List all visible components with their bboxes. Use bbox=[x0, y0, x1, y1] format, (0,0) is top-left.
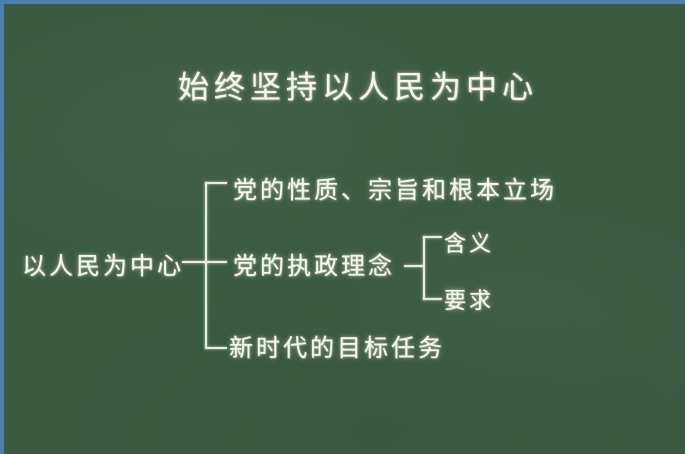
mindmap-branch-new-era-goals: 新时代的目标任务 bbox=[229, 328, 445, 363]
sub-bracket-arm-bottom bbox=[423, 298, 442, 300]
mindmap-subitem-meaning: 含义 bbox=[444, 226, 494, 258]
main-bracket-arm-bottom bbox=[205, 347, 227, 349]
sub-bracket-arm-top bbox=[423, 236, 442, 238]
main-bracket-arm-top bbox=[205, 182, 227, 184]
main-bracket-arm-middle bbox=[205, 261, 227, 263]
frame-edge-top bbox=[0, 0, 685, 4]
sub-connector-line bbox=[404, 265, 424, 267]
mindmap-branch-governing-philosophy: 党的执政理念 bbox=[233, 246, 395, 281]
mindmap-root-node: 以人民为中心 bbox=[22, 246, 184, 281]
mindmap-subitem-requirement: 要求 bbox=[444, 283, 494, 315]
frame-edge-left bbox=[0, 0, 4, 454]
sub-bracket-spine bbox=[423, 236, 425, 300]
mindmap-branch-party-nature: 党的性质、宗旨和根本立场 bbox=[233, 170, 557, 205]
root-connector-line bbox=[182, 261, 206, 263]
chalkboard-slide: 始终坚持以人民为中心 以人民为中心 党的性质、宗旨和根本立场 党的执政理念 新时… bbox=[0, 0, 685, 454]
page-title: 始终坚持以人民为中心 bbox=[178, 62, 538, 107]
main-bracket-spine bbox=[205, 182, 207, 349]
